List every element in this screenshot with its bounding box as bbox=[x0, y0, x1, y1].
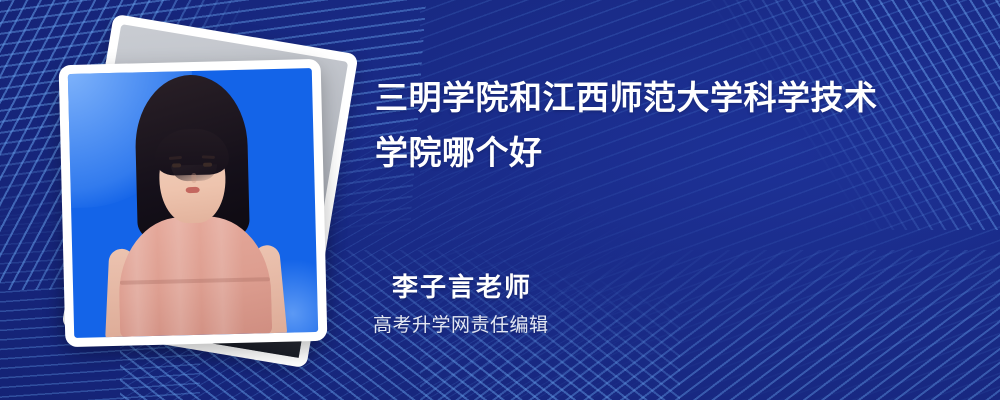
author-role: 高考升学网责任编辑 bbox=[372, 310, 892, 342]
photo-card-front bbox=[59, 59, 328, 347]
article-title: 三明学院和江西师范大学科学技术 学院哪个好 bbox=[375, 70, 975, 180]
portrait-mouth bbox=[186, 187, 200, 193]
article-title-line-1: 三明学院和江西师范大学科学技术 bbox=[375, 70, 975, 125]
portrait-eyebrow-right bbox=[202, 155, 215, 158]
portrait-eye-right bbox=[203, 163, 212, 167]
photo-card-stack bbox=[56, 38, 356, 362]
portrait-dress bbox=[117, 215, 272, 338]
author-credit: 李子言老师 高考升学网责任编辑 bbox=[372, 268, 892, 342]
article-header-banner: 三明学院和江西师范大学科学技术 学院哪个好 李子言老师 高考升学网责任编辑 bbox=[0, 0, 1000, 400]
portrait-eyebrow-left bbox=[169, 155, 182, 159]
article-title-line-2: 学院哪个好 bbox=[375, 125, 975, 180]
author-name: 李子言老师 bbox=[372, 268, 892, 306]
portrait-eye-left bbox=[172, 163, 181, 167]
editor-portrait-photo bbox=[68, 68, 318, 338]
portrait-illustration bbox=[68, 68, 318, 338]
portrait-nose bbox=[191, 173, 196, 183]
